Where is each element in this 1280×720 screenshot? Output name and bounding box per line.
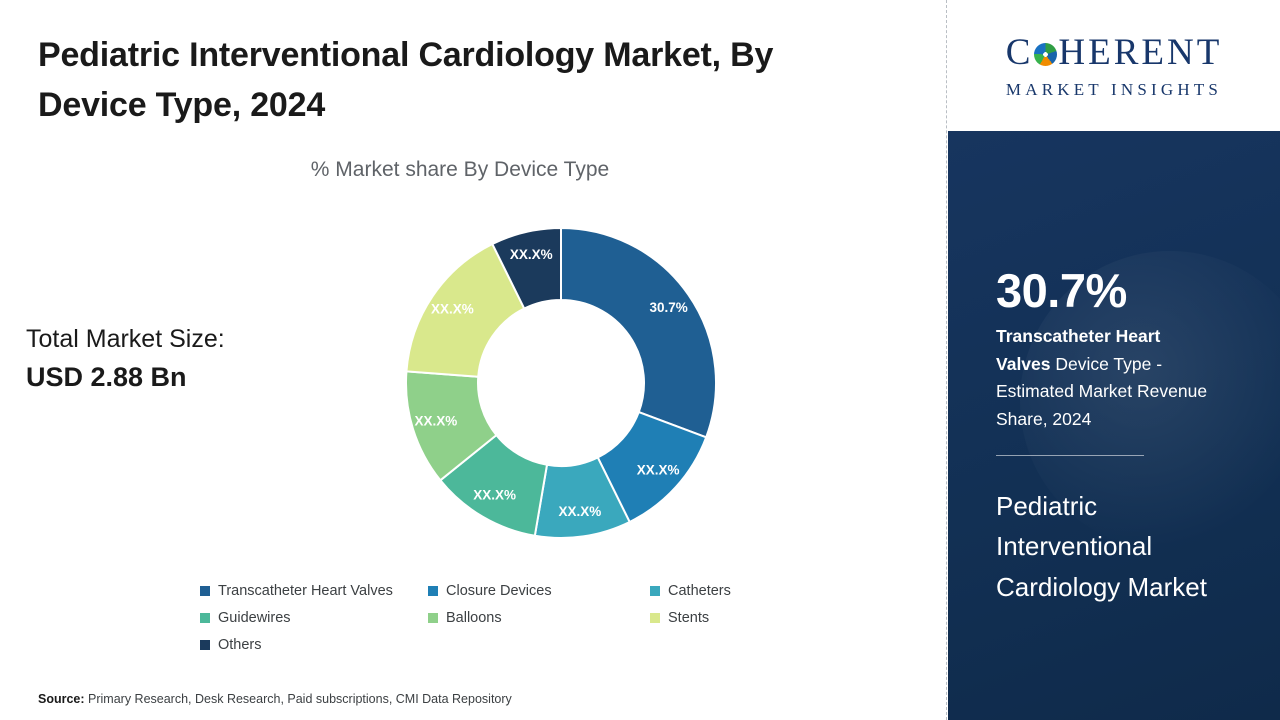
legend-item-others[interactable]: Others <box>200 637 428 653</box>
logo-word-part-2: HERENT <box>1058 31 1222 74</box>
legend-item-guidewires[interactable]: Guidewires <box>200 610 428 626</box>
page-title: Pediatric Interventional Cardiology Mark… <box>38 30 888 131</box>
legend-swatch-icon <box>650 613 660 623</box>
legend-swatch-icon <box>200 613 210 623</box>
left-panel: Pediatric Interventional Cardiology Mark… <box>0 0 947 720</box>
source-text: Primary Research, Desk Research, Paid su… <box>85 692 512 706</box>
legend-item-balloons[interactable]: Balloons <box>428 610 650 626</box>
legend-row: Others <box>200 637 820 653</box>
legend-item-stents[interactable]: Stents <box>650 610 800 626</box>
infographic-page: Pediatric Interventional Cardiology Mark… <box>0 0 1280 720</box>
donut-slice[interactable] <box>561 228 716 437</box>
donut-slice-label: XX.X% <box>558 504 601 519</box>
donut-slice-label: XX.X% <box>637 462 680 477</box>
legend-item-catheters[interactable]: Catheters <box>650 583 800 599</box>
legend-label: Balloons <box>446 610 502 626</box>
legend-swatch-icon <box>428 613 438 623</box>
donut-svg: 30.7%XX.X%XX.X%XX.X%XX.X%XX.X%XX.X% <box>401 223 721 543</box>
legend-label: Closure Devices <box>446 583 552 599</box>
panel-divider <box>946 0 947 720</box>
legend-label: Stents <box>668 610 709 626</box>
chart-legend: Transcatheter Heart Valves Closure Devic… <box>200 583 820 664</box>
total-market-size-value: USD 2.88 Bn <box>26 362 187 393</box>
brand-logo: CHERENT MARKET INSIGHTS <box>948 0 1280 131</box>
legend-item-transcatheter-heart-valves[interactable]: Transcatheter Heart Valves <box>200 583 428 599</box>
legend-label: Transcatheter Heart Valves <box>218 583 393 599</box>
donut-slice-label: 30.7% <box>650 300 688 315</box>
source-label: Source: <box>38 692 85 706</box>
donut-chart: 30.7%XX.X%XX.X%XX.X%XX.X%XX.X%XX.X% <box>401 223 721 543</box>
legend-row: Transcatheter Heart Valves Closure Devic… <box>200 583 820 599</box>
legend-swatch-icon <box>200 640 210 650</box>
legend-label: Others <box>218 637 262 653</box>
logo-tagline: MARKET INSIGHTS <box>1006 80 1222 100</box>
donut-slice-label: XX.X% <box>510 247 553 262</box>
market-name: Pediatric Interventional Cardiology Mark… <box>996 486 1228 607</box>
logo-word-part-1: C <box>1006 31 1034 74</box>
legend-label: Catheters <box>668 583 731 599</box>
globe-icon <box>1034 43 1057 66</box>
donut-slice-label: XX.X% <box>473 488 516 503</box>
chart-subtitle: % Market share By Device Type <box>0 158 920 182</box>
legend-swatch-icon <box>428 586 438 596</box>
total-market-size-label: Total Market Size: <box>26 325 225 354</box>
legend-item-closure-devices[interactable]: Closure Devices <box>428 583 650 599</box>
stat-description-strong: Transcatheter Heart Valves <box>996 326 1160 374</box>
legend-swatch-icon <box>650 586 660 596</box>
stat-description: Transcatheter Heart Valves Device Type -… <box>996 323 1211 434</box>
divider-rule <box>996 455 1144 456</box>
stat-percentage: 30.7% <box>996 263 1127 318</box>
donut-slice-label: XX.X% <box>415 413 458 428</box>
legend-label: Guidewires <box>218 610 291 626</box>
source-note: Source: Primary Research, Desk Research,… <box>38 692 512 706</box>
highlight-panel: 30.7% Transcatheter Heart Valves Device … <box>948 131 1280 720</box>
donut-slice-label: XX.X% <box>431 301 474 316</box>
legend-row: Guidewires Balloons Stents <box>200 610 820 626</box>
legend-swatch-icon <box>200 586 210 596</box>
stat-description-rest: Device Type - Estimated Market Revenue S… <box>996 354 1207 429</box>
logo-wordmark: CHERENT <box>1006 31 1223 74</box>
right-panel: CHERENT MARKET INSIGHTS 30.7% Transcathe… <box>948 0 1280 720</box>
